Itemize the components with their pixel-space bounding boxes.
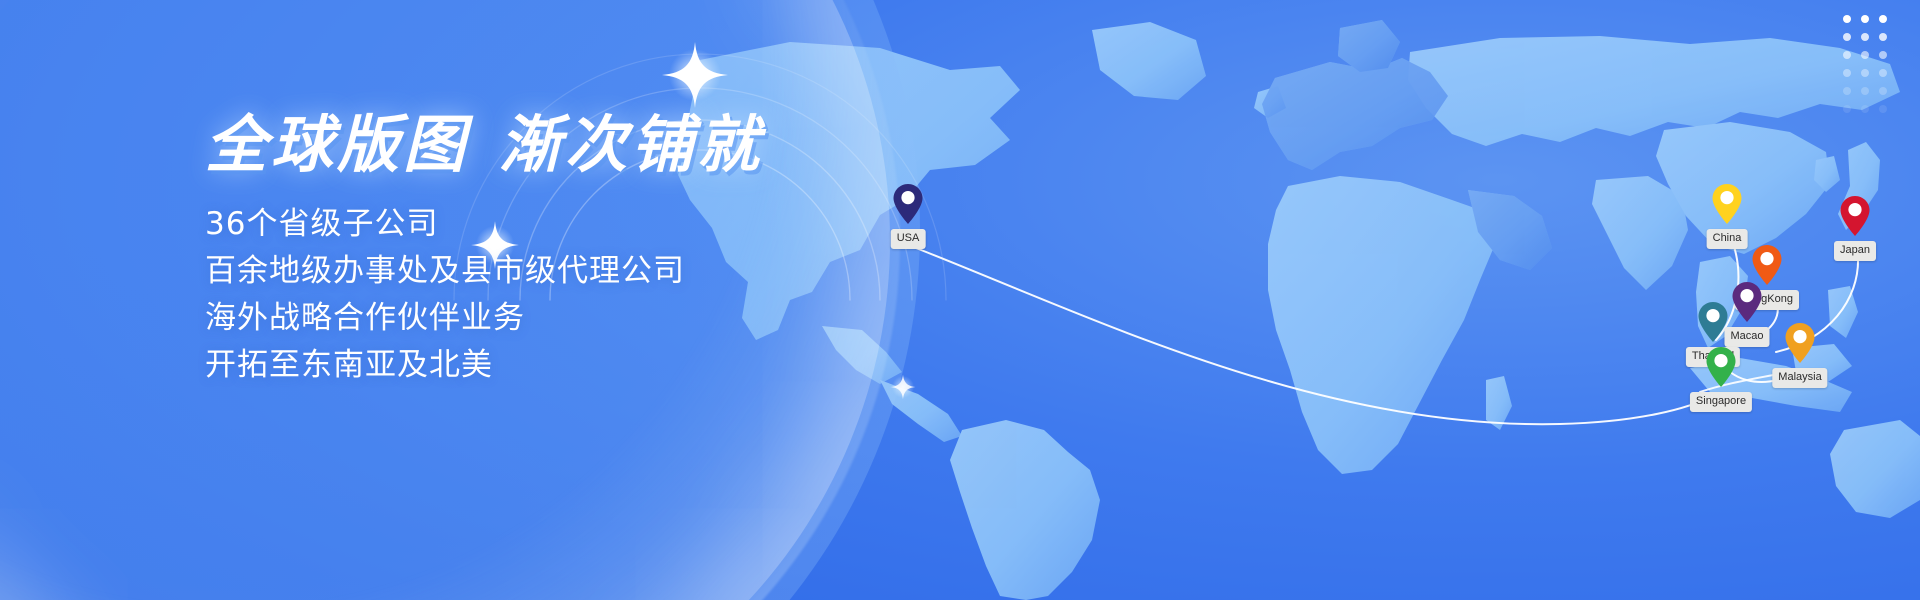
banner-copy-block: 全球版图渐次铺就 36个省级子公司 百余地级办事处及县市级代理公司 海外战略合作… xyxy=(205,112,763,390)
location-pin-icon xyxy=(1705,346,1737,388)
banner-bullet-list: 36个省级子公司 百余地级办事处及县市级代理公司 海外战略合作伙伴业务 开拓至东… xyxy=(205,201,763,389)
location-pin-icon xyxy=(1751,244,1783,286)
location-pin-icon xyxy=(892,183,924,225)
headline-part-2: 渐次铺就 xyxy=(499,108,763,181)
headline-part-1: 全球版图 xyxy=(205,108,469,181)
map-marker-label: China xyxy=(1707,229,1748,249)
location-pin-icon xyxy=(1731,281,1763,323)
global-footprint-banner: 全球版图渐次铺就 36个省级子公司 百余地级办事处及县市级代理公司 海外战略合作… xyxy=(0,0,1920,600)
map-marker-label: USA xyxy=(891,229,926,249)
map-marker-label: Malaysia xyxy=(1772,368,1827,388)
list-item: 36个省级子公司 xyxy=(205,201,763,248)
map-marker-label: Macao xyxy=(1724,327,1769,347)
map-marker-label: Japan xyxy=(1834,241,1876,261)
list-item: 百余地级办事处及县市级代理公司 xyxy=(205,248,763,295)
location-pin-icon xyxy=(1784,322,1816,364)
map-marker-label: Singapore xyxy=(1690,392,1752,412)
list-item: 开拓至东南亚及北美 xyxy=(205,342,763,389)
page-title: 全球版图渐次铺就 xyxy=(205,112,763,177)
list-item: 海外战略合作伙伴业务 xyxy=(205,295,763,342)
location-pin-icon xyxy=(1697,301,1729,343)
location-pin-icon xyxy=(1711,183,1743,225)
location-pin-icon xyxy=(1839,195,1871,237)
